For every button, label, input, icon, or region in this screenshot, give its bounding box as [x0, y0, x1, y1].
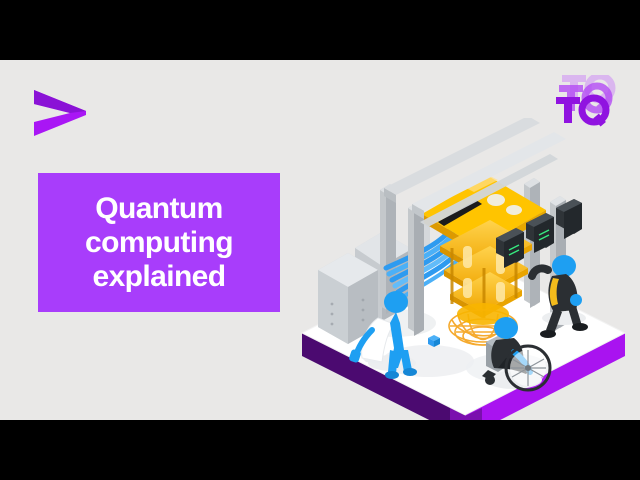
title-line-3: explained: [93, 260, 226, 294]
video-frame: Quantum computing explained: [0, 0, 640, 480]
letterbox-bar-bottom: [0, 420, 640, 480]
letterbox-bar-top: [0, 0, 640, 60]
title-line-2: computing: [85, 226, 233, 260]
title-card: Quantum computing explained: [38, 173, 280, 312]
isometric-quantum-lab-scene: [300, 118, 630, 420]
title-line-1: Quantum: [95, 192, 222, 226]
accenture-greater-than-icon: [30, 88, 86, 138]
wheelchair-wheel: [506, 346, 550, 390]
slide-canvas: Quantum computing explained: [0, 60, 640, 420]
